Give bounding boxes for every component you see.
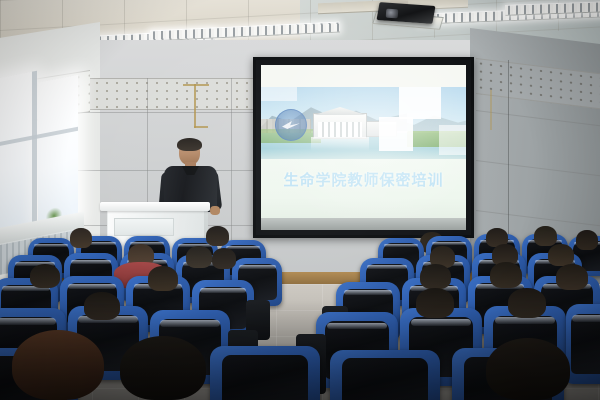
- attendee-head: [30, 264, 60, 288]
- projection-screen: 生命学院教师保密培训: [253, 57, 474, 238]
- seat-highlight: [34, 244, 68, 248]
- seat-highlight: [572, 315, 600, 322]
- window-mullion: [32, 71, 37, 224]
- wall-ornament: [490, 90, 492, 130]
- attendee-head: [486, 338, 570, 400]
- seat-upholstery: [222, 355, 308, 400]
- slide-photo: [261, 87, 466, 159]
- wall-seam: [62, 112, 262, 113]
- university-seal-emblem-icon: [275, 109, 307, 141]
- seat: [330, 350, 440, 400]
- seat-highlight: [344, 290, 391, 295]
- seat-highlight: [68, 284, 115, 289]
- screen-surface: 生命学院教师保密培训: [261, 65, 466, 230]
- seat-highlight: [367, 265, 407, 269]
- seat-upholstery: [571, 314, 600, 375]
- wall-ornament: [183, 84, 209, 86]
- seat-highlight: [71, 260, 111, 264]
- projector-glare: [379, 117, 413, 151]
- slide-photo-reflection: [311, 137, 369, 151]
- presenter-hair: [177, 138, 202, 151]
- seat: [566, 304, 600, 384]
- attendee-head: [70, 228, 92, 248]
- podium-front-panel: [114, 218, 174, 236]
- attendee-head: [84, 292, 120, 320]
- seat-highlight: [200, 288, 246, 293]
- ceiling-projector: [374, 0, 436, 26]
- window-pane-left: [0, 71, 34, 230]
- slide-photo-building-columns: [318, 122, 362, 137]
- wall-seam: [508, 60, 509, 260]
- attendee-head: [508, 288, 546, 318]
- projector-lens-icon: [386, 9, 399, 19]
- attendee-head: [12, 330, 104, 400]
- attendee-head: [576, 230, 598, 250]
- seat-upholstery: [342, 358, 428, 400]
- attendee-head: [490, 262, 522, 288]
- attendee-head: [420, 264, 451, 289]
- window-pane-right: [38, 75, 78, 223]
- seat-highlight: [0, 318, 56, 324]
- projector-glare: [399, 87, 441, 119]
- seat-highlight: [411, 319, 472, 326]
- wall-ornament: [194, 126, 208, 128]
- screen-bottom-bar: [261, 218, 466, 230]
- seat-highlight: [239, 265, 276, 269]
- seat: [210, 346, 320, 400]
- attendee-head: [186, 246, 212, 268]
- seat-highlight: [384, 244, 418, 248]
- seat-highlight: [495, 317, 556, 324]
- attendee-head: [120, 336, 206, 400]
- attendee-head: [148, 266, 178, 291]
- projector-glare: [261, 87, 297, 101]
- projector-glare: [439, 125, 466, 155]
- attendee-head: [416, 288, 454, 318]
- seat-highlight: [327, 323, 388, 330]
- wall-ornament: [194, 84, 196, 128]
- seat-highlight: [432, 242, 466, 246]
- attendee-head: [534, 226, 557, 246]
- attendee-head: [206, 226, 229, 246]
- attendee-head: [212, 248, 236, 269]
- presenter-hand: [210, 206, 220, 215]
- slide-photo-building: [313, 113, 367, 139]
- acoustic-panel-front: [62, 78, 262, 110]
- seat-highlight: [226, 246, 260, 250]
- slide-title-text: 生命学院教师保密培训: [261, 169, 466, 190]
- podium-top: [100, 202, 210, 211]
- attendee-head: [556, 264, 588, 290]
- seat-highlight: [160, 320, 219, 327]
- lecture-hall-photo: 生命学院教师保密培训: [0, 0, 600, 400]
- attendee-head: [548, 244, 574, 266]
